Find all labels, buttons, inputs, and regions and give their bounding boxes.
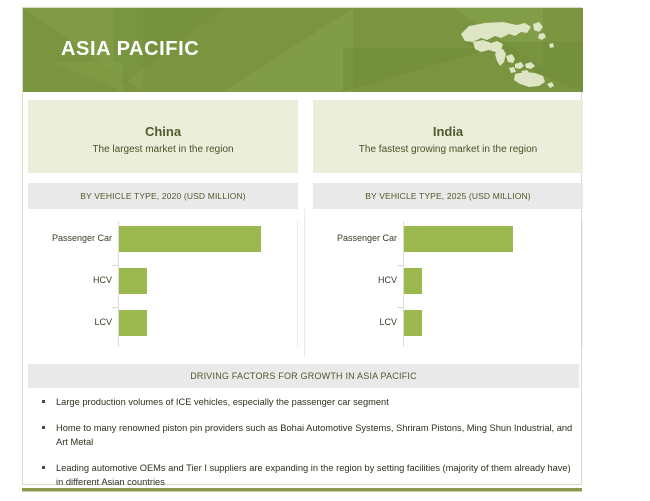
bar-row: HCV xyxy=(313,268,583,294)
chart-india: Passenger Car HCV LCV xyxy=(313,221,583,347)
bar-row: Passenger Car xyxy=(313,226,583,252)
chart-china: Passenger Car HCV LCV xyxy=(28,221,298,347)
bar-row: Passenger Car xyxy=(28,226,298,252)
bar-passenger-car xyxy=(119,226,261,252)
country-subtitle: The fastest growing market in the region xyxy=(313,144,583,155)
axis-tick xyxy=(112,265,118,266)
bar-hcv xyxy=(404,268,422,294)
section-header-label: BY VEHICLE TYPE, 2025 (USD MILLION) xyxy=(365,191,531,201)
list-item-text: Home to many renowned piston pin provide… xyxy=(56,423,572,447)
bar-lcv xyxy=(119,310,147,336)
bullet-icon xyxy=(42,400,45,403)
section-header-label: BY VEHICLE TYPE, 2020 (USD MILLION) xyxy=(80,191,246,201)
bar-label: Passenger Car xyxy=(313,233,397,243)
bar-label: Passenger Car xyxy=(28,233,112,243)
list-item-text: Leading automotive OEMs and Tier I suppl… xyxy=(56,463,571,487)
country-subtitle: The largest market in the region xyxy=(28,144,298,155)
banner-facet xyxy=(223,8,353,92)
country-name: China xyxy=(28,124,298,139)
country-card-india: India The fastest growing market in the … xyxy=(313,100,583,173)
list-item: Leading automotive OEMs and Tier I suppl… xyxy=(34,461,579,489)
bar-row: LCV xyxy=(313,310,583,336)
list-item: Home to many renowned piston pin provide… xyxy=(34,421,579,449)
header-banner: ASIA PACIFIC xyxy=(23,8,583,92)
asia-pacific-map-icon xyxy=(451,16,561,90)
banner-facet xyxy=(53,62,123,92)
bar-label: HCV xyxy=(28,275,112,285)
bullet-icon xyxy=(42,466,45,469)
section-header-india: BY VEHICLE TYPE, 2025 (USD MILLION) xyxy=(313,183,583,209)
axis-tick xyxy=(112,307,118,308)
bar-label: HCV xyxy=(313,275,397,285)
list-item: Large production volumes of ICE vehicles… xyxy=(34,395,579,409)
bar-label: LCV xyxy=(28,317,112,327)
bar-row: HCV xyxy=(28,268,298,294)
axis-tick xyxy=(397,307,403,308)
bar-lcv xyxy=(404,310,422,336)
bar-row: LCV xyxy=(28,310,298,336)
axis-tick xyxy=(397,265,403,266)
bottom-rule xyxy=(22,488,582,492)
bar-passenger-car xyxy=(404,226,513,252)
bullet-icon xyxy=(42,426,45,429)
driving-factors-header: DRIVING FACTORS FOR GROWTH IN ASIA PACIF… xyxy=(28,364,579,388)
page-title: ASIA PACIFIC xyxy=(61,38,199,61)
bar-hcv xyxy=(119,268,147,294)
column-india: India The fastest growing market in the … xyxy=(313,100,583,347)
section-header-china: BY VEHICLE TYPE, 2020 (USD MILLION) xyxy=(28,183,298,209)
bar-label: LCV xyxy=(313,317,397,327)
driving-factors-title: DRIVING FACTORS FOR GROWTH IN ASIA PACIF… xyxy=(190,371,417,381)
column-china: China The largest market in the region B… xyxy=(28,100,298,347)
country-name: India xyxy=(313,124,583,139)
column-divider xyxy=(304,209,305,357)
infographic-frame: ASIA PACIFIC China The largest xyxy=(22,7,582,485)
list-item-text: Large production volumes of ICE vehicles… xyxy=(56,397,389,407)
country-card-china: China The largest market in the region xyxy=(28,100,298,173)
driving-factors-list: Large production volumes of ICE vehicles… xyxy=(34,395,579,501)
